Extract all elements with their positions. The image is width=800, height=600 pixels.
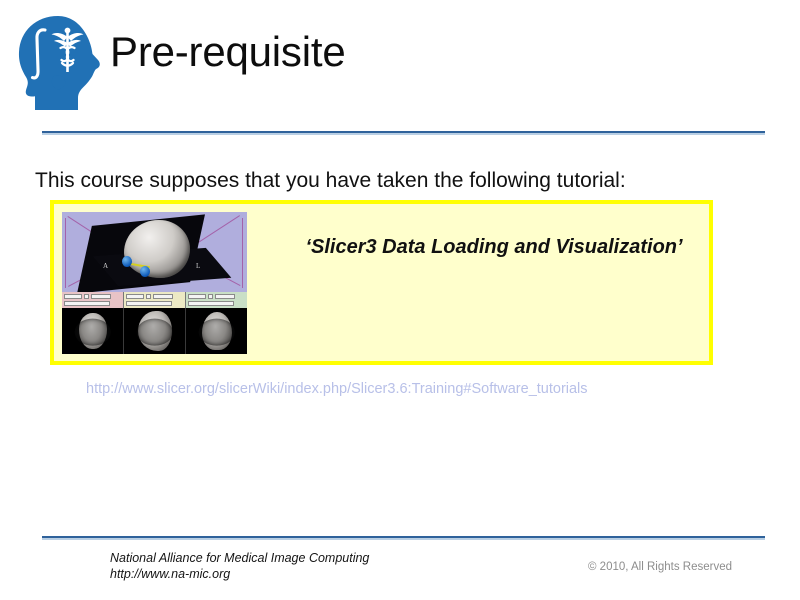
body-text: This course supposes that you have taken… bbox=[35, 168, 626, 194]
slice-view-axial bbox=[62, 308, 124, 354]
thumbnail-slice-views bbox=[62, 308, 247, 354]
thumbnail-anterior-label: A bbox=[103, 262, 108, 270]
na-mic-head-caduceus-logo-icon bbox=[14, 14, 106, 114]
prerequisite-callout-box: A L bbox=[50, 200, 713, 365]
slice-controls-axial bbox=[62, 292, 124, 308]
slice-controls-sagittal bbox=[124, 292, 186, 308]
footer-copyright: © 2010, All Rights Reserved bbox=[588, 561, 732, 573]
thumbnail-3d-view: A L bbox=[62, 212, 247, 292]
slice-view-sagittal bbox=[124, 308, 186, 354]
slice-controls-coronal bbox=[186, 292, 247, 308]
tutorial-title: ‘Slicer3 Data Loading and Visualization’ bbox=[284, 236, 704, 259]
page-title: Pre-requisite bbox=[110, 26, 346, 78]
footer-organization-block: National Alliance for Medical Image Comp… bbox=[110, 551, 369, 582]
thumbnail-left-label: L bbox=[196, 262, 200, 270]
slice-view-coronal bbox=[186, 308, 247, 354]
thumbnail-slice-control-bars bbox=[62, 292, 247, 308]
slicer-wiki-training-link[interactable]: http://www.slicer.org/slicerWiki/index.p… bbox=[86, 381, 588, 397]
footer-divider bbox=[42, 536, 765, 540]
footer-organization-name: National Alliance for Medical Image Comp… bbox=[110, 551, 369, 567]
slide-canvas: Pre-requisite This course supposes that … bbox=[0, 0, 800, 600]
header-divider bbox=[42, 131, 765, 135]
slicer3-screenshot-thumbnail-icon: A L bbox=[62, 212, 247, 354]
footer-website: http://www.na-mic.org bbox=[110, 567, 369, 583]
